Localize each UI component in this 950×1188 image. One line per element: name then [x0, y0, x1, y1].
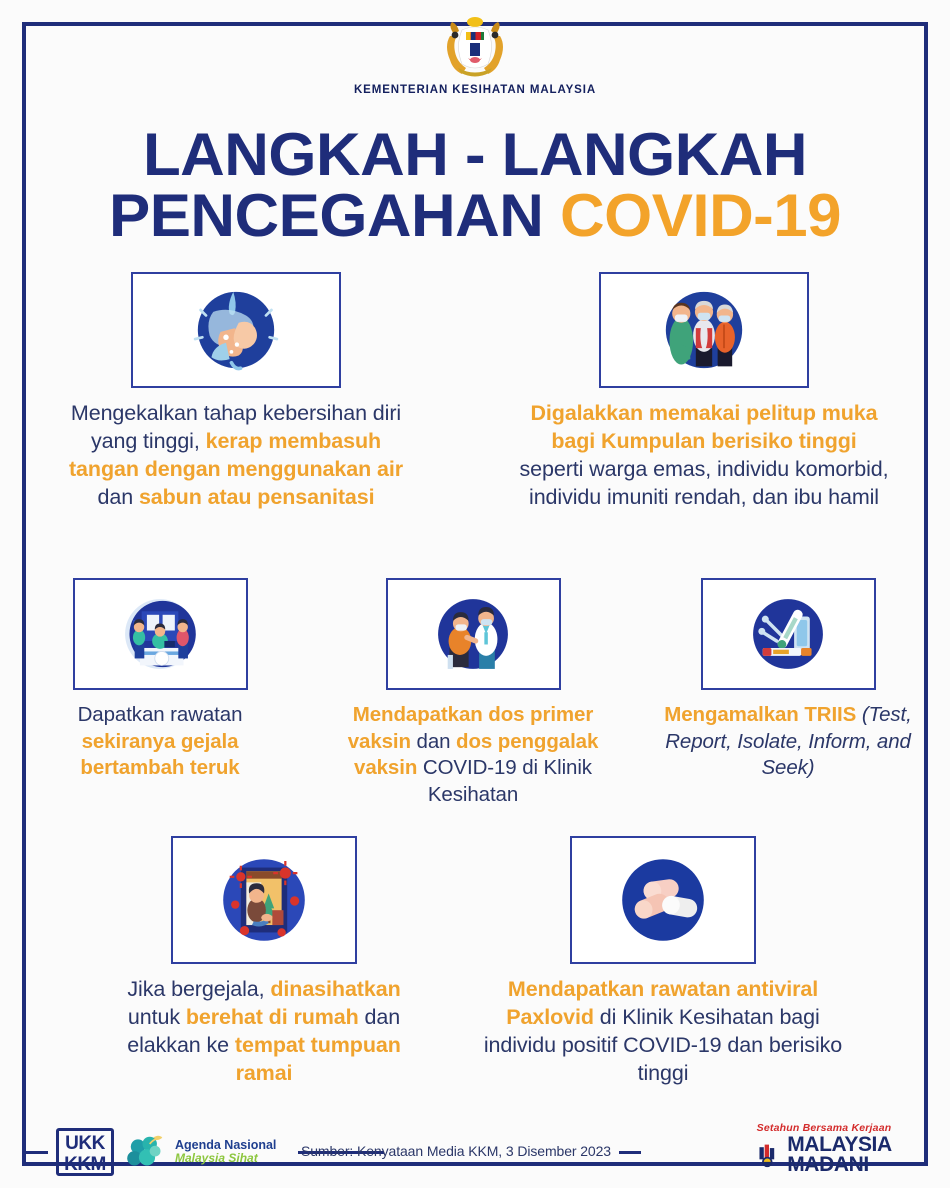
step-seek-treatment: Dapatkan rawatan sekiranya gejala bertam…	[29, 578, 291, 782]
caption-seg: dinasihatkan	[270, 977, 400, 1001]
caption-seg: dan	[97, 485, 138, 509]
malaysia-coat-of-arms-icon	[436, 16, 514, 78]
test-kit-icon	[701, 578, 876, 690]
rest-at-home-icon	[171, 836, 357, 964]
clinic-reception-icon	[73, 578, 248, 690]
step-vaccination: Mendapatkan dos primer vaksin dan dos pe…	[333, 578, 613, 809]
source-text: Sumber: Kenyataan Media KKM, 3 Disember …	[301, 1143, 611, 1159]
step-stay-home: Jika bergejala, dinasihatkan untuk bereh…	[104, 836, 424, 1088]
masked-people-icon	[599, 272, 809, 388]
steps-row-2: Dapatkan rawatan sekiranya gejala bertam…	[0, 578, 950, 809]
step-antiviral-caption: Mendapatkan rawatan antiviral Paxlovid d…	[480, 976, 846, 1088]
step-hygiene: Mengekalkan tahap kebersihan diri yang t…	[61, 272, 411, 512]
ministry-name: KEMENTERIAN KESIHATAN MALAYSIA	[0, 84, 950, 96]
title-line-2: PENCEGAHAN COVID-19	[0, 185, 950, 246]
vaccination-icon	[386, 578, 561, 690]
pills-icon	[570, 836, 756, 964]
caption-seg: dan	[417, 730, 457, 753]
caption-seg: untuk	[128, 1005, 186, 1029]
poster-header: KEMENTERIAN KESIHATAN MALAYSIA	[0, 16, 950, 96]
handwashing-icon	[131, 272, 341, 388]
step-hygiene-caption: Mengekalkan tahap kebersihan diri yang t…	[61, 400, 411, 512]
step-triis-caption: Mengamalkan TRIIS (Test, Report, Isolate…	[655, 702, 921, 782]
step-triis: Mengamalkan TRIIS (Test, Report, Isolate…	[655, 578, 921, 782]
step-seek-treatment-caption: Dapatkan rawatan sekiranya gejala bertam…	[29, 702, 291, 782]
caption-seg: Jika bergejala,	[127, 977, 270, 1001]
step-antiviral: Mendapatkan rawatan antiviral Paxlovid d…	[480, 836, 846, 1088]
caption-seg: sabun atau pensanitasi	[139, 485, 375, 509]
caption-seg: berehat di rumah	[186, 1005, 365, 1029]
caption-seg: sekiranya gejala bertambah teruk	[80, 730, 239, 780]
caption-seg: seperti warga emas, individu komorbid, i…	[519, 457, 888, 509]
steps-row-3: Jika bergejala, dinasihatkan untuk bereh…	[0, 836, 950, 1088]
madani-line-2: MADANI	[787, 1155, 892, 1175]
page-title: LANGKAH - LANGKAH PENCEGAHAN COVID-19	[0, 124, 950, 246]
title-line-2-main: PENCEGAHAN	[109, 182, 560, 249]
madani-line-1: MALAYSIA	[787, 1135, 892, 1155]
title-covid-accent: COVID-19	[560, 182, 841, 249]
step-vaccination-caption: Mendapatkan dos primer vaksin dan dos pe…	[333, 702, 613, 809]
malaysia-madani-logo: Setahun Bersama Kerjaan MALAYSIA MADANI	[738, 1122, 910, 1174]
step-face-mask: Digalakkan memakai pelitup muka bagi Kum…	[519, 272, 889, 512]
caption-seg: COVID-19 di Klinik Kesihatan	[423, 756, 592, 806]
caption-seg: Mengamalkan TRIIS	[664, 703, 856, 726]
infographic-poster: KEMENTERIAN KESIHATAN MALAYSIA LANGKAH -…	[0, 0, 950, 1188]
caption-seg: Dapatkan rawatan	[78, 703, 243, 726]
caption-seg: Digalakkan memakai pelitup muka bagi Kum…	[530, 401, 877, 453]
footer-dash-right	[619, 1151, 641, 1154]
step-face-mask-caption: Digalakkan memakai pelitup muka bagi Kum…	[519, 400, 889, 512]
title-line-1: LANGKAH - LANGKAH	[0, 124, 950, 185]
steps-row-1: Mengekalkan tahap kebersihan diri yang t…	[0, 272, 950, 512]
caption-seg: tempat tumpuan ramai	[235, 1033, 401, 1085]
madani-hand-icon	[756, 1142, 782, 1168]
step-stay-home-caption: Jika bergejala, dinasihatkan untuk bereh…	[104, 976, 424, 1088]
